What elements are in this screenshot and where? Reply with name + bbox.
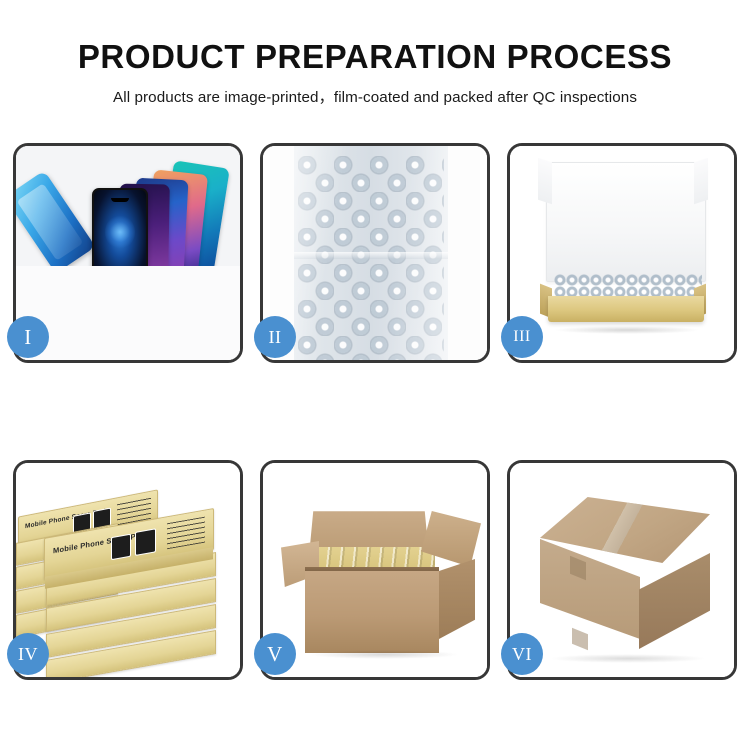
retail-box-thumb-top-2 (135, 528, 156, 556)
step-image-3 (510, 146, 734, 360)
antenna-strip-part (54, 324, 76, 331)
step-badge-4: IV (7, 633, 49, 675)
header: PRODUCT PREPARATION PROCESS All products… (0, 0, 750, 107)
phone-parts-photo (16, 146, 240, 360)
stacked-boxes-photo: Mobile Phone Spare Parts Mobile Phone Sp… (16, 463, 240, 677)
small-shield-part (102, 342, 113, 353)
step-badge-1: I (7, 316, 49, 358)
carton-right-face (439, 559, 475, 639)
mailer-lid-flap-left (538, 158, 552, 205)
carton-seam-lower (572, 628, 588, 650)
step-image-6 (510, 463, 734, 677)
bubble-wrap-sheen (294, 146, 448, 360)
phone-open-chassis (121, 287, 206, 360)
step-image-4: Mobile Phone Spare Parts Mobile Phone Sp… (16, 463, 240, 677)
mailer-shadow (554, 326, 700, 334)
bubble-wrap-photo (263, 146, 487, 360)
carton-packing-photo (263, 463, 487, 677)
mailer-lid (546, 162, 706, 282)
sealed-carton-photo (510, 463, 734, 677)
phone-main-display (92, 188, 148, 288)
board-connector-part (108, 306, 132, 313)
retail-box-thumb-top-1 (111, 534, 131, 561)
step-card-6: VI (507, 460, 737, 680)
step-card-2: II (260, 143, 490, 363)
sealed-carton-shadow (550, 654, 706, 663)
technician-hand (192, 312, 240, 360)
carton-shadow (309, 650, 459, 659)
sim-tray-part (88, 340, 97, 354)
box-stack: Mobile Phone Spare Parts Mobile Phone Sp… (16, 471, 240, 677)
step-image-5 (263, 463, 487, 677)
step-card-3: III (507, 143, 737, 363)
step-badge-3: III (501, 316, 543, 358)
product-preparation-infographic: PRODUCT PREPARATION PROCESS All products… (0, 0, 750, 750)
screwdriver-icon (193, 298, 216, 340)
camera-module-part (52, 340, 66, 350)
step-badge-6: VI (501, 633, 543, 675)
step-card-5: V (260, 460, 490, 680)
step-card-4: Mobile Phone Spare Parts Mobile Phone Sp… (13, 460, 243, 680)
step-card-1: I (13, 143, 243, 363)
step-image-1 (16, 146, 240, 360)
step-image-2 (263, 146, 487, 360)
step-badge-5: V (254, 633, 296, 675)
vibrator-part (70, 342, 82, 354)
screen-protector-film (16, 170, 96, 273)
gold-connector-part (124, 286, 144, 294)
page-title: PRODUCT PREPARATION PROCESS (0, 0, 750, 76)
mailer-bubble-contents (554, 274, 702, 298)
carton-front-face (305, 571, 439, 653)
ribbon-cable-part (102, 322, 128, 328)
flex-cable-part (48, 294, 78, 300)
inner-box-photo (510, 146, 734, 360)
screws-group (198, 336, 220, 346)
mailer-front-panel (548, 296, 704, 322)
page-subtitle: All products are image-printed，film-coat… (0, 76, 750, 107)
sealed-carton-right-face (639, 553, 710, 649)
chip-grid-part (68, 312, 94, 336)
retail-box-speclines-top (167, 517, 205, 550)
bubble-wrap-sleeve (294, 146, 448, 360)
metal-bracket-part (142, 289, 152, 294)
process-steps-grid: I II (13, 143, 737, 680)
step-badge-2: II (254, 316, 296, 358)
mailer-lid-flap-right (694, 158, 708, 205)
speaker-coil-part (96, 282, 114, 300)
